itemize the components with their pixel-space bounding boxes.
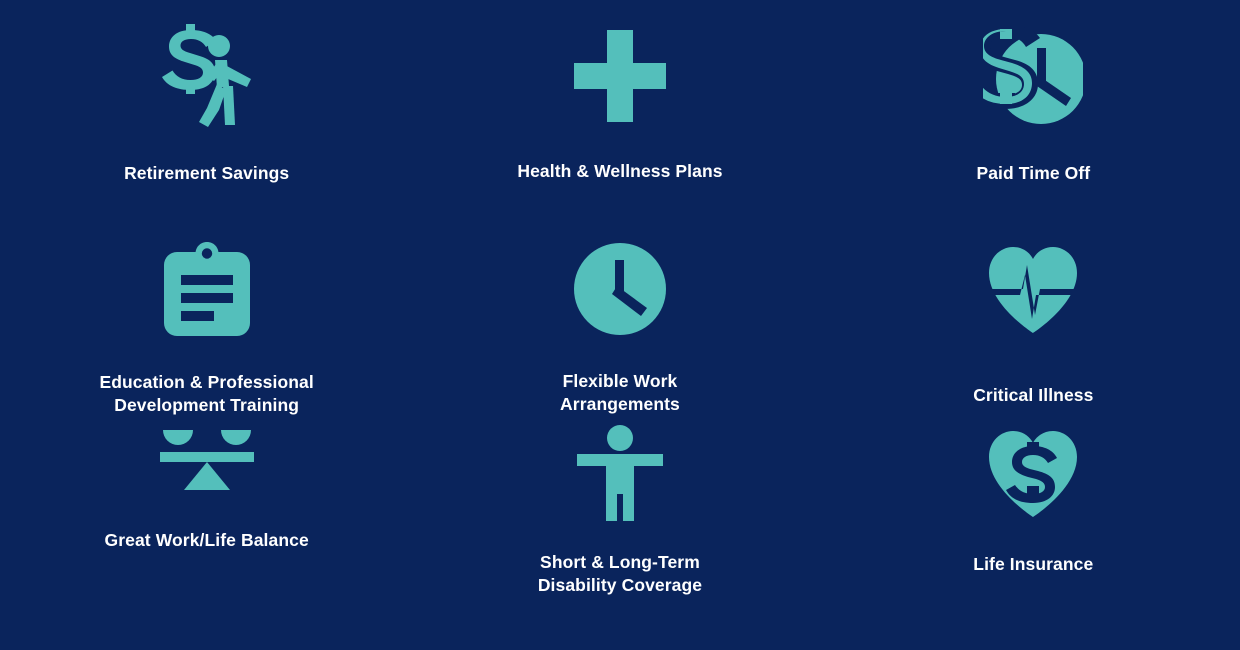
benefit-item-great-work-life-balance[interactable]: Great Work/Life Balance [42,411,372,552]
benefit-item-critical-illness[interactable]: Critical Illness [868,235,1198,407]
accessibility-person-icon [577,425,663,521]
benefit-label: Retirement Savings [124,162,289,185]
balance-scale-icon [160,428,254,490]
clock-icon [574,243,666,335]
benefit-label: Critical Illness [973,384,1093,407]
benefit-item-flexible-work-arrangements[interactable]: Flexible Work Arrangements [455,235,785,417]
benefit-item-education-professional-development[interactable]: Education & Professional Development Tra… [42,235,372,418]
benefit-icon-wrapper [985,235,1081,343]
benefit-label: Health & Wellness Plans [517,160,722,183]
benefits-grid: Retirement Savings Health & Wellness Pla… [0,0,1240,650]
benefit-icon-wrapper [574,22,666,130]
benefit-label: Great Work/Life Balance [105,529,309,552]
benefit-icon-wrapper [160,411,254,507]
benefit-icon-wrapper [574,235,666,343]
benefit-item-health-wellness-plans[interactable]: Health & Wellness Plans [455,22,785,183]
dollar-walking-person-icon [159,24,255,128]
benefit-icon-wrapper [159,22,255,130]
benefit-item-paid-time-off[interactable]: Paid Time Off [868,22,1198,185]
heart-heartbeat-icon [985,245,1081,333]
benefit-label: Flexible Work Arrangements [560,370,680,417]
benefit-icon-wrapper [985,419,1081,527]
benefit-label: Short & Long-Term Disability Coverage [538,551,702,598]
benefit-icon-wrapper [164,235,250,343]
medical-cross-icon [574,30,666,122]
benefit-icon-wrapper [577,419,663,527]
benefit-label: Paid Time Off [976,162,1090,185]
heart-dollar-icon [985,429,1081,517]
benefit-item-short-long-term-disability[interactable]: Short & Long-Term Disability Coverage [455,419,785,598]
dollar-clock-icon [983,27,1083,125]
benefit-icon-wrapper [983,22,1083,130]
benefit-item-retirement-savings[interactable]: Retirement Savings [42,22,372,185]
benefit-item-life-insurance[interactable]: Life Insurance [868,419,1198,576]
benefit-label: Life Insurance [973,553,1093,576]
clipboard-icon [164,242,250,336]
